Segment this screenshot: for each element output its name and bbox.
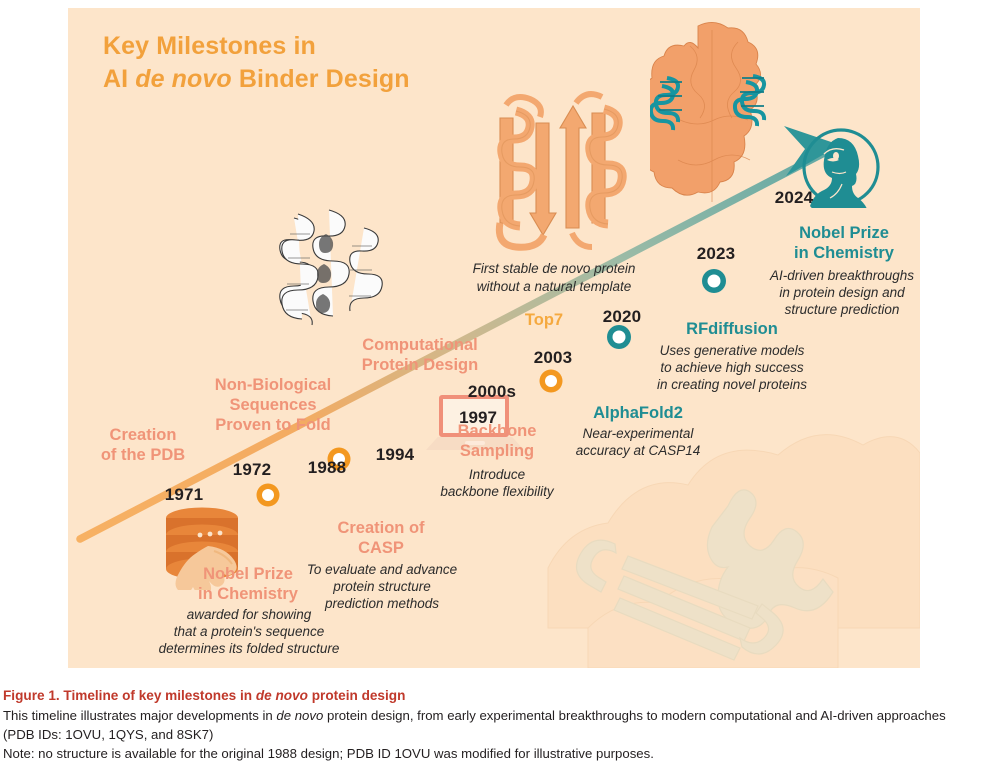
milestone-nobel1972-description: awarded for showing that a protein's seq… <box>136 607 362 658</box>
figure-panel: Key Milestones in AI de novo Binder Desi… <box>68 8 920 668</box>
year-2003: 2003 <box>523 348 583 368</box>
dot-1988 <box>257 484 280 507</box>
milestone-backbone-description: Introduce backbone flexibility <box>416 467 578 501</box>
caption-title-italic: de novo <box>256 688 308 703</box>
milestone-nobel2024-description: AI-driven breakthroughs in protein desig… <box>756 268 920 319</box>
milestone-backbone-desc-l2: backbone flexibility <box>416 484 578 501</box>
milestone-rfdiffusion-description: Uses generative models to achieve high s… <box>626 343 838 394</box>
year-1972: 1972 <box>222 460 282 480</box>
milestone-top7-annotation-l1: First stable de novo protein <box>448 260 660 278</box>
milestone-rfdiffusion-headline: RFdiffusion <box>656 320 808 340</box>
year-2023: 2023 <box>686 244 746 264</box>
milestone-alphafold2-headline: AlphaFold2 <box>558 404 718 424</box>
milestone-nobel2024-desc-l2: in protein design and <box>756 285 920 302</box>
milestone-casp-desc-l2: protein structure <box>286 579 478 596</box>
dot-2023 <box>702 269 726 293</box>
caption-note: Note: no structure is available for the … <box>3 744 978 763</box>
milestone-backbone-headline-l2: Sampling <box>434 442 560 462</box>
milestone-top7-annotation: First stable de novo protein without a n… <box>448 260 660 295</box>
milestone-nonbio-headline: Non-Biological Sequences Proven to Fold <box>178 376 368 435</box>
caption-body-italic: de novo <box>276 708 323 723</box>
dot-2003 <box>540 370 563 393</box>
milestone-nobel1972-desc-l3: determines its folded structure <box>136 641 362 658</box>
milestone-rfdiffusion-desc-l2: to achieve high success <box>626 360 838 377</box>
figure-root: Key Milestones in AI de novo Binder Desi… <box>0 0 987 768</box>
caption-title-post: protein design <box>308 688 405 703</box>
year-1971: 1971 <box>154 485 214 505</box>
milestone-alphafold2-description: Near-experimental accuracy at CASP14 <box>548 426 728 460</box>
milestone-top7-annotation-l2: without a natural template <box>448 278 660 296</box>
milestone-nobel2024-desc-l1: AI-driven breakthroughs <box>756 268 920 285</box>
milestone-nobel2024-desc-l3: structure prediction <box>756 302 920 319</box>
milestone-nobel1972-desc-l2: that a protein's sequence <box>136 624 362 641</box>
milestone-casp-headline-l1: Creation of <box>306 519 456 539</box>
milestone-alphafold2-headline-l1: AlphaFold2 <box>558 404 718 424</box>
milestone-casp-desc-l3: prediction methods <box>286 596 478 613</box>
caption-title-pre: Figure 1. Timeline of key milestones in <box>3 688 256 703</box>
milestone-backbone-headline: Backbone Sampling <box>434 422 560 462</box>
milestone-rfdiffusion-headline-l1: RFdiffusion <box>656 320 808 340</box>
milestone-casp-headline: Creation of CASP <box>306 519 456 559</box>
milestone-nobel2024-headline: Nobel Prize in Chemistry <box>768 224 920 264</box>
milestone-backbone-desc-l1: Introduce <box>416 467 578 484</box>
milestone-nonbio-headline-l2: Sequences <box>178 396 368 416</box>
milestone-top7-headline: Top7 <box>504 311 584 331</box>
milestone-casp-description: To evaluate and advance protein structur… <box>286 562 478 613</box>
milestone-rfdiffusion-desc-l3: in creating novel proteins <box>626 377 838 394</box>
milestone-cpd-headline-l2: Protein Design <box>340 356 500 376</box>
figure-caption: Figure 1. Timeline of key milestones in … <box>3 686 978 763</box>
year-1988: 1988 <box>297 458 357 478</box>
milestone-rfdiffusion-desc-l1: Uses generative models <box>626 343 838 360</box>
year-2024: 2024 <box>764 188 824 208</box>
caption-title: Figure 1. Timeline of key milestones in … <box>3 686 978 706</box>
milestone-casp-desc-l1: To evaluate and advance <box>286 562 478 579</box>
milestone-cpd-headline: Computational Protein Design <box>340 336 500 376</box>
milestone-nonbio-headline-l3: Proven to Fold <box>178 416 368 436</box>
milestone-top7-headline-l1: Top7 <box>504 311 584 331</box>
caption-body-pre: This timeline illustrates major developm… <box>3 708 276 723</box>
milestone-backbone-headline-l1: Backbone <box>434 422 560 442</box>
year-2000s: 2000s <box>459 382 525 402</box>
year-2020: 2020 <box>592 307 652 327</box>
milestone-casp-headline-l2: CASP <box>306 539 456 559</box>
milestone-cpd-headline-l1: Computational <box>340 336 500 356</box>
year-1994: 1994 <box>365 445 425 465</box>
milestone-nobel2024-headline-l2: in Chemistry <box>768 244 920 264</box>
milestone-alphafold2-desc-l2: accuracy at CASP14 <box>548 443 728 460</box>
milestone-alphafold2-desc-l1: Near-experimental <box>548 426 728 443</box>
milestone-nonbio-headline-l1: Non-Biological <box>178 376 368 396</box>
milestone-nobel2024-headline-l1: Nobel Prize <box>768 224 920 244</box>
milestone-pdb-headline-l2: of the PDB <box>78 446 208 466</box>
caption-body: This timeline illustrates major developm… <box>3 706 978 744</box>
